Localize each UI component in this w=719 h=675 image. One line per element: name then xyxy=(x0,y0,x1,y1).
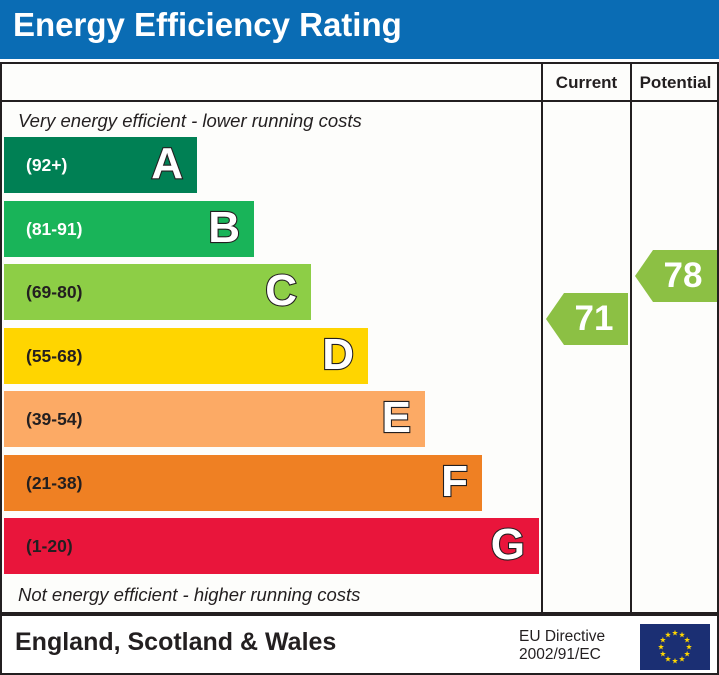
band-letter-d: D xyxy=(322,328,354,384)
rating-band-d: (55-68)D xyxy=(4,328,368,384)
chart-title-bar: Energy Efficiency Rating xyxy=(0,0,719,59)
rating-band-f: (21-38)F xyxy=(4,455,482,511)
caption-very-efficient: Very energy efficient - lower running co… xyxy=(18,110,362,132)
band-letter-c: C xyxy=(265,264,297,320)
directive-line-2: 2002/91/EC xyxy=(519,646,629,664)
band-range-c: (69-80) xyxy=(26,264,82,320)
caption-not-efficient: Not energy efficient - higher running co… xyxy=(18,584,360,606)
band-letter-g: G xyxy=(491,518,525,574)
eu-flag-svg xyxy=(640,624,710,670)
page-title: Energy Efficiency Rating xyxy=(13,6,402,44)
rating-band-e: (39-54)E xyxy=(4,391,425,447)
current-column-divider xyxy=(541,64,543,612)
band-letter-a: A xyxy=(151,137,183,193)
band-range-b: (81-91) xyxy=(26,201,82,257)
current-rating-arrow: 71 xyxy=(546,293,628,345)
band-range-d: (55-68) xyxy=(26,328,82,384)
header-divider xyxy=(2,100,717,102)
band-letter-e: E xyxy=(382,391,411,447)
band-range-f: (21-38) xyxy=(26,455,82,511)
energy-efficiency-rating-chart: Energy Efficiency Rating Current Potenti… xyxy=(0,0,719,675)
rating-band-a: (92+)A xyxy=(4,137,197,193)
rating-band-b: (81-91)B xyxy=(4,201,254,257)
rating-bands: (92+)A(81-91)B(69-80)C(55-68)D(39-54)E(2… xyxy=(4,137,541,581)
column-header-current: Current xyxy=(543,72,630,96)
directive-line-1: EU Directive xyxy=(519,628,629,646)
rating-band-g: (1-20)G xyxy=(4,518,539,574)
band-range-g: (1-20) xyxy=(26,518,73,574)
band-letter-b: B xyxy=(208,201,240,257)
rating-band-c: (69-80)C xyxy=(4,264,311,320)
rating-table: Current Potential Very energy efficient … xyxy=(0,62,719,614)
footer-directive-label: EU Directive 2002/91/EC xyxy=(519,628,629,664)
eu-flag-icon xyxy=(640,624,710,670)
band-range-a: (92+) xyxy=(26,137,67,193)
potential-rating-arrow: 78 xyxy=(635,250,717,302)
band-letter-f: F xyxy=(441,455,468,511)
column-header-potential: Potential xyxy=(632,72,719,96)
chart-footer: England, Scotland & Wales EU Directive 2… xyxy=(0,614,719,675)
potential-column-divider xyxy=(630,64,632,612)
band-range-e: (39-54) xyxy=(26,391,82,447)
footer-region-label: England, Scotland & Wales xyxy=(15,628,336,657)
